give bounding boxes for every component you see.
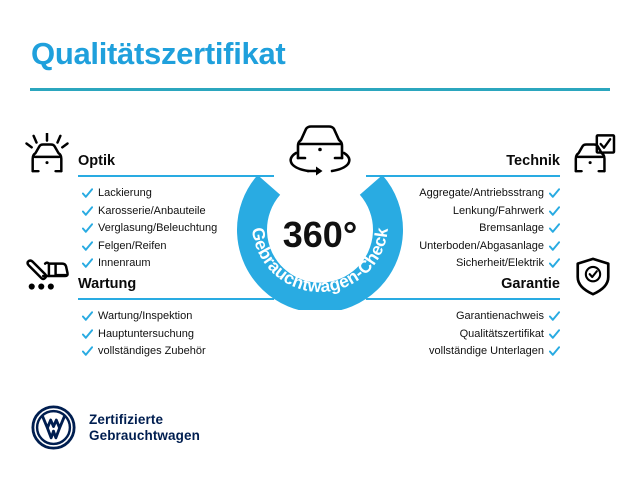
section-garantie: Garantie Garantienachweis Qualitätszerti… [386, 256, 616, 361]
check-icon [82, 311, 93, 322]
section-title: Wartung [78, 276, 136, 292]
check-icon [82, 206, 93, 217]
vw-logo-icon [31, 405, 76, 450]
list-item: Aggregate/Antriebsstrang [386, 185, 616, 203]
car-checkbox-icon [570, 133, 616, 175]
title-divider [30, 88, 610, 91]
list-item-label: Lenkung/Fahrwerk [453, 203, 544, 221]
badge-center-label: 360° [283, 214, 357, 255]
list-item-label: Felgen/Reifen [98, 238, 167, 256]
section-wartung: Wartung Wartung/Inspektion Hauptuntersuc… [24, 256, 254, 361]
list-item-label: vollständige Unterlagen [429, 343, 544, 361]
list-item: Karosserie/Anbauteile [24, 203, 254, 221]
vw-certified-logo: Zertifizierte Gebrauchtwagen [31, 405, 200, 450]
list-item-label: Verglasung/Beleuchtung [98, 220, 217, 238]
section-title: Technik [506, 153, 560, 169]
section-technik: Technik Aggregate/Antriebsstrang Lenkung… [386, 133, 616, 273]
check-icon [82, 188, 93, 199]
list-item-label: Hauptuntersuchung [98, 326, 194, 344]
car-wrench-icon [24, 256, 70, 298]
badge-360-check: Gebrauchtwagen-Check 360° [228, 124, 412, 310]
check-icon [549, 329, 560, 340]
vw-logo-text: Zertifizierte Gebrauchtwagen [89, 412, 200, 444]
check-icon [549, 223, 560, 234]
list-item: vollständige Unterlagen [386, 343, 616, 361]
list-item-label: Aggregate/Antriebsstrang [419, 185, 544, 203]
section-header: Wartung [24, 256, 254, 300]
list-item-label: vollständiges Zubehör [98, 343, 206, 361]
vw-logo-line2: Gebrauchtwagen [89, 428, 200, 444]
car-shine-icon [24, 133, 70, 175]
list-item-label: Garantienachweis [456, 308, 544, 326]
list-item: Wartung/Inspektion [24, 308, 254, 326]
list-item: Hauptuntersuchung [24, 326, 254, 344]
section-title: Optik [78, 153, 115, 169]
list-item: Qualitätszertifikat [386, 326, 616, 344]
check-icon [549, 241, 560, 252]
check-icon [549, 346, 560, 357]
list-item: vollständiges Zubehör [24, 343, 254, 361]
list-item: Garantienachweis [386, 308, 616, 326]
check-icon [82, 241, 93, 252]
section-title: Garantie [501, 276, 560, 292]
list-item: Unterboden/Abgasanlage [386, 238, 616, 256]
list-item: Bremsanlage [386, 220, 616, 238]
check-icon [549, 188, 560, 199]
checklist-garantie: Garantienachweis Qualitätszertifikat vol… [386, 308, 616, 361]
page-title: Qualitätszertifikat [31, 36, 285, 72]
check-icon [82, 329, 93, 340]
list-item-label: Wartung/Inspektion [98, 308, 192, 326]
list-item-label: Lackierung [98, 185, 152, 203]
check-icon [549, 311, 560, 322]
checklist-wartung: Wartung/Inspektion Hauptuntersuchung vol… [24, 308, 254, 361]
list-item: Felgen/Reifen [24, 238, 254, 256]
vw-logo-line1: Zertifizierte [89, 412, 200, 428]
check-icon [549, 206, 560, 217]
list-item-label: Bremsanlage [479, 220, 544, 238]
section-header: Garantie [386, 256, 616, 300]
section-optik: Optik Lackierung Karosserie/Anbauteile [24, 133, 254, 273]
check-icon [82, 346, 93, 357]
section-header: Optik [24, 133, 254, 177]
section-header: Technik [386, 133, 616, 177]
list-item-label: Qualitätszertifikat [460, 326, 544, 344]
list-item-label: Unterboden/Abgasanlage [419, 238, 544, 256]
certificate-page: Qualitätszertifikat Optik [0, 0, 640, 480]
car-rotate-icon [282, 120, 358, 182]
check-icon [82, 223, 93, 234]
list-item: Verglasung/Beleuchtung [24, 220, 254, 238]
list-item: Lackierung [24, 185, 254, 203]
shield-check-icon [570, 256, 616, 298]
list-item: Lenkung/Fahrwerk [386, 203, 616, 221]
list-item-label: Karosserie/Anbauteile [98, 203, 206, 221]
